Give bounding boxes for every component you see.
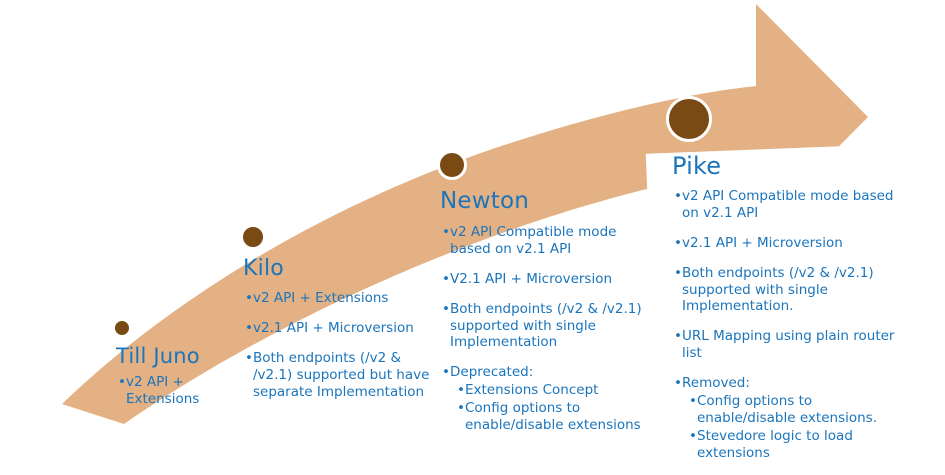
list-item: Config options to enable/disable extensi…: [450, 400, 657, 434]
list-item: Config options to enable/disable extensi…: [682, 393, 914, 427]
list-item: V2.1 API + Microversion: [442, 271, 657, 288]
milestone-title-newton: Newton: [440, 188, 529, 214]
list-item: Stevedore logic to load extensions: [682, 428, 914, 462]
list-item: v2 API + Extensions: [118, 374, 223, 408]
bullet-text: V2.1 API + Microversion: [450, 271, 657, 288]
milestone-bullets-newton: v2 API Compatible mode based on v2.1 API…: [442, 224, 657, 447]
bullet-text: v2 API + Extensions: [253, 290, 435, 307]
bullet-text: Both endpoints (/v2 & /v2.1) supported w…: [682, 265, 914, 316]
milestone-title-pike: Pike: [672, 152, 721, 180]
milestone-dot-newton: [437, 150, 467, 180]
milestone-dot-kilo: [240, 224, 266, 250]
list-item: v2.1 API + Microversion: [674, 235, 914, 252]
milestone-bullets-kilo: v2 API + Extensions v2.1 API + Microvers…: [245, 290, 435, 413]
list-item: v2 API + Extensions: [245, 290, 435, 307]
milestone-title-juno: Till Juno: [116, 344, 200, 368]
bullet-text: Config options to enable/disable extensi…: [697, 393, 914, 427]
sub-list: Config options to enable/disable extensi…: [682, 393, 914, 462]
list-item: Removed: Config options to enable/disabl…: [674, 375, 914, 461]
list-item: v2 API Compatible mode based on v2.1 API: [442, 224, 657, 258]
list-item: v2 API Compatible mode based on v2.1 API: [674, 188, 914, 222]
bullet-text: Removed:: [682, 375, 914, 392]
list-item: Both endpoints (/v2 & /v2.1) supported b…: [245, 350, 435, 401]
milestone-dot-pike: [666, 96, 712, 142]
sub-list: Extensions Concept Config options to ena…: [450, 382, 657, 434]
milestone-bullets-juno: v2 API + Extensions: [118, 374, 223, 421]
milestone-bullets-pike: v2 API Compatible mode based on v2.1 API…: [674, 188, 914, 474]
bullet-text: URL Mapping using plain router list: [682, 328, 914, 362]
milestone-dot-juno: [112, 318, 132, 338]
bullet-text: Extensions Concept: [465, 382, 657, 399]
bullet-text: v2.1 API + Microversion: [253, 320, 435, 337]
bullet-text: Both endpoints (/v2 & /v2.1) supported w…: [450, 301, 657, 352]
list-item: Both endpoints (/v2 & /v2.1) supported w…: [674, 265, 914, 316]
bullet-text: Deprecated:: [450, 364, 657, 381]
milestone-title-kilo: Kilo: [243, 256, 284, 281]
roadmap-canvas: Till Juno v2 API + Extensions Kilo v2 AP…: [0, 0, 945, 475]
bullet-text: v2 API Compatible mode based on v2.1 API: [682, 188, 914, 222]
bullet-text: v2 API Compatible mode based on v2.1 API: [450, 224, 657, 258]
list-item: v2.1 API + Microversion: [245, 320, 435, 337]
bullet-text: v2 API + Extensions: [126, 374, 223, 408]
list-item: URL Mapping using plain router list: [674, 328, 914, 362]
bullet-text: Both endpoints (/v2 & /v2.1) supported b…: [253, 350, 435, 401]
list-item: Extensions Concept: [450, 382, 657, 399]
list-item: Both endpoints (/v2 & /v2.1) supported w…: [442, 301, 657, 352]
bullet-text: v2.1 API + Microversion: [682, 235, 914, 252]
bullet-text: Stevedore logic to load extensions: [697, 428, 914, 462]
bullet-text: Config options to enable/disable extensi…: [465, 400, 657, 434]
list-item: Deprecated: Extensions Concept Config op…: [442, 364, 657, 434]
